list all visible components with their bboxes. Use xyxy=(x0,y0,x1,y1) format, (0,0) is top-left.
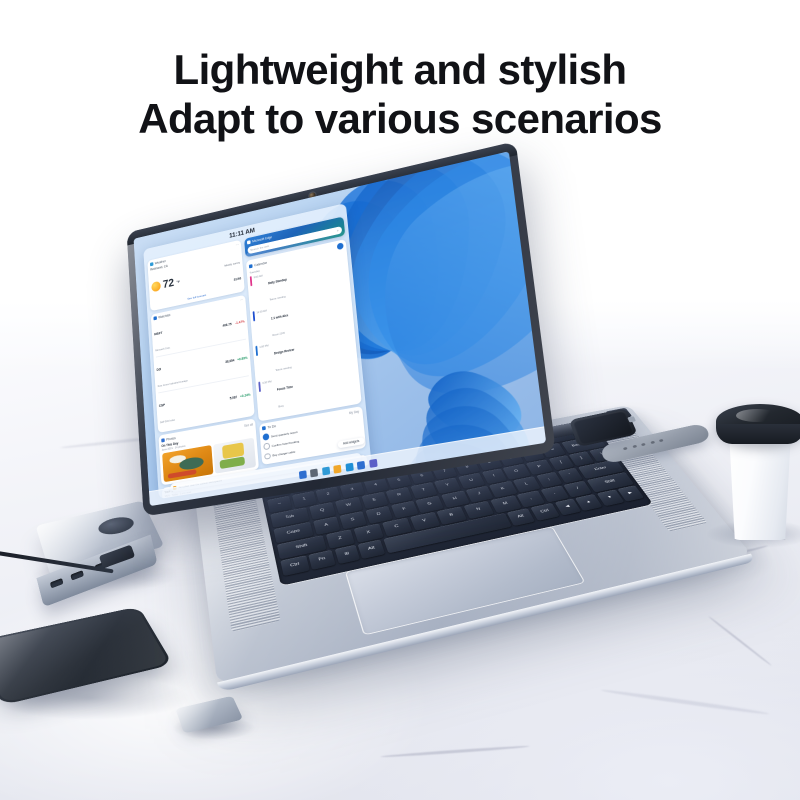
photos-widget-title: Photos xyxy=(166,436,176,441)
weather-high-low: 81/66 xyxy=(234,277,242,282)
stocks-icon xyxy=(153,316,157,320)
start-icon[interactable] xyxy=(298,470,306,479)
edge-icon[interactable] xyxy=(345,462,353,471)
stock-name: Dow Jones Industrial Average xyxy=(157,379,187,387)
calendar-icon xyxy=(249,264,253,268)
event-color-bar xyxy=(250,276,252,286)
stock-price: 38,654 xyxy=(225,358,234,363)
stocks-widget[interactable]: Watchlist ··· MSFTMicrosoft Corp.408.75-… xyxy=(150,295,255,433)
strap-holes xyxy=(623,439,664,450)
widget-more-icon[interactable]: ··· xyxy=(240,298,243,302)
key-alt[interactable]: Alt xyxy=(507,508,535,526)
event-name: Daily Standup xyxy=(268,278,287,286)
weather-condition: Mostly sunny xyxy=(224,261,240,268)
widget-more-icon[interactable]: ··· xyxy=(236,243,239,247)
event-time: 11:30 AM xyxy=(256,308,268,314)
event-name: 1:1 with Alex xyxy=(271,313,289,320)
key--[interactable]: ⊞ xyxy=(335,545,360,564)
event-location: Busy xyxy=(278,405,284,409)
event-time: 9:00 AM xyxy=(253,273,265,279)
event-location: Room 2145 xyxy=(272,332,285,337)
laptop: ⏻ escF1F2F3F4F5F6F7F8F9F10F11F12del ~123… xyxy=(0,0,800,800)
widgets-panel[interactable]: 11:11 AM Weather ··· Redmon xyxy=(143,203,371,499)
calendar-event-list: 9:00 AMDaily StandupTeams meeting11:30 A… xyxy=(250,256,358,415)
todo-widget-title: To Do xyxy=(267,425,276,430)
stock-price: 5,087 xyxy=(230,395,238,400)
stock-change: +0.24% xyxy=(239,393,251,399)
calendar-widget-title: Calendar xyxy=(254,261,267,267)
event-location: Teams meeting xyxy=(269,296,285,302)
weather-unit: °F xyxy=(176,279,180,284)
product-marketing-image: Lightweight and stylish Adapt to various… xyxy=(0,0,800,800)
sun-icon xyxy=(151,281,161,293)
stock-ticker: DJI xyxy=(156,367,161,372)
event-location: Teams meeting xyxy=(275,366,292,372)
search-icon[interactable] xyxy=(310,468,318,477)
todo-checkbox[interactable] xyxy=(264,453,270,460)
todo-icon xyxy=(262,426,266,430)
photo-thumbnail[interactable] xyxy=(213,437,256,473)
event-color-bar xyxy=(258,382,260,392)
weather-temperature: 72 xyxy=(163,277,175,290)
widgets-icon[interactable] xyxy=(322,466,330,475)
edge-icon xyxy=(247,240,251,244)
stock-ticker: MSFT xyxy=(154,331,162,336)
avatar[interactable] xyxy=(336,243,343,251)
event-color-bar xyxy=(255,346,257,356)
event-color-bar xyxy=(253,311,255,321)
todo-checkbox[interactable] xyxy=(263,433,269,440)
laptop-lid: 11:11 AM Weather ··· Redmon xyxy=(134,151,547,506)
photos-icon xyxy=(161,438,165,442)
event-name: Design Review xyxy=(274,348,295,356)
stock-name: Microsoft Corp. xyxy=(155,346,170,352)
event-name: Focus Time xyxy=(277,385,293,392)
todo-text: Buy charger cable xyxy=(272,450,295,458)
stock-change: -1.47% xyxy=(233,319,245,325)
key-ctrl[interactable]: Ctrl xyxy=(530,503,560,521)
stock-ticker: CSP xyxy=(159,403,165,408)
cup-lid-highlight xyxy=(736,409,778,422)
coffee-cup xyxy=(724,432,796,540)
key-ctrl[interactable]: Ctrl xyxy=(280,556,309,576)
file-explorer-icon[interactable] xyxy=(333,464,341,473)
teams-icon[interactable] xyxy=(369,458,377,467)
stock-price: 408.75 xyxy=(222,322,231,327)
weather-icon xyxy=(150,262,154,266)
store-icon[interactable] xyxy=(357,460,365,469)
calendar-widget[interactable]: Calendar Tuesday 9:00 AMDaily StandupTea… xyxy=(246,239,362,421)
event-time: 3:30 PM xyxy=(262,379,274,385)
cup-lid-rim xyxy=(716,424,800,444)
key-alt[interactable]: Alt xyxy=(358,540,385,559)
todo-checkbox[interactable] xyxy=(263,443,269,450)
photo-thumbnail[interactable] xyxy=(162,444,214,481)
key-fn[interactable]: Fn xyxy=(309,550,336,570)
widget-more-icon[interactable]: See all xyxy=(244,422,253,427)
stock-change: +0.89% xyxy=(236,356,248,362)
stock-name: S&P 500 Index xyxy=(160,419,175,425)
stocks-list: MSFTMicrosoft Corp.408.75-1.47%DJIDow Jo… xyxy=(153,303,251,429)
todo-list-label[interactable]: My Day xyxy=(349,410,360,416)
event-time: 1:00 PM xyxy=(259,343,271,349)
